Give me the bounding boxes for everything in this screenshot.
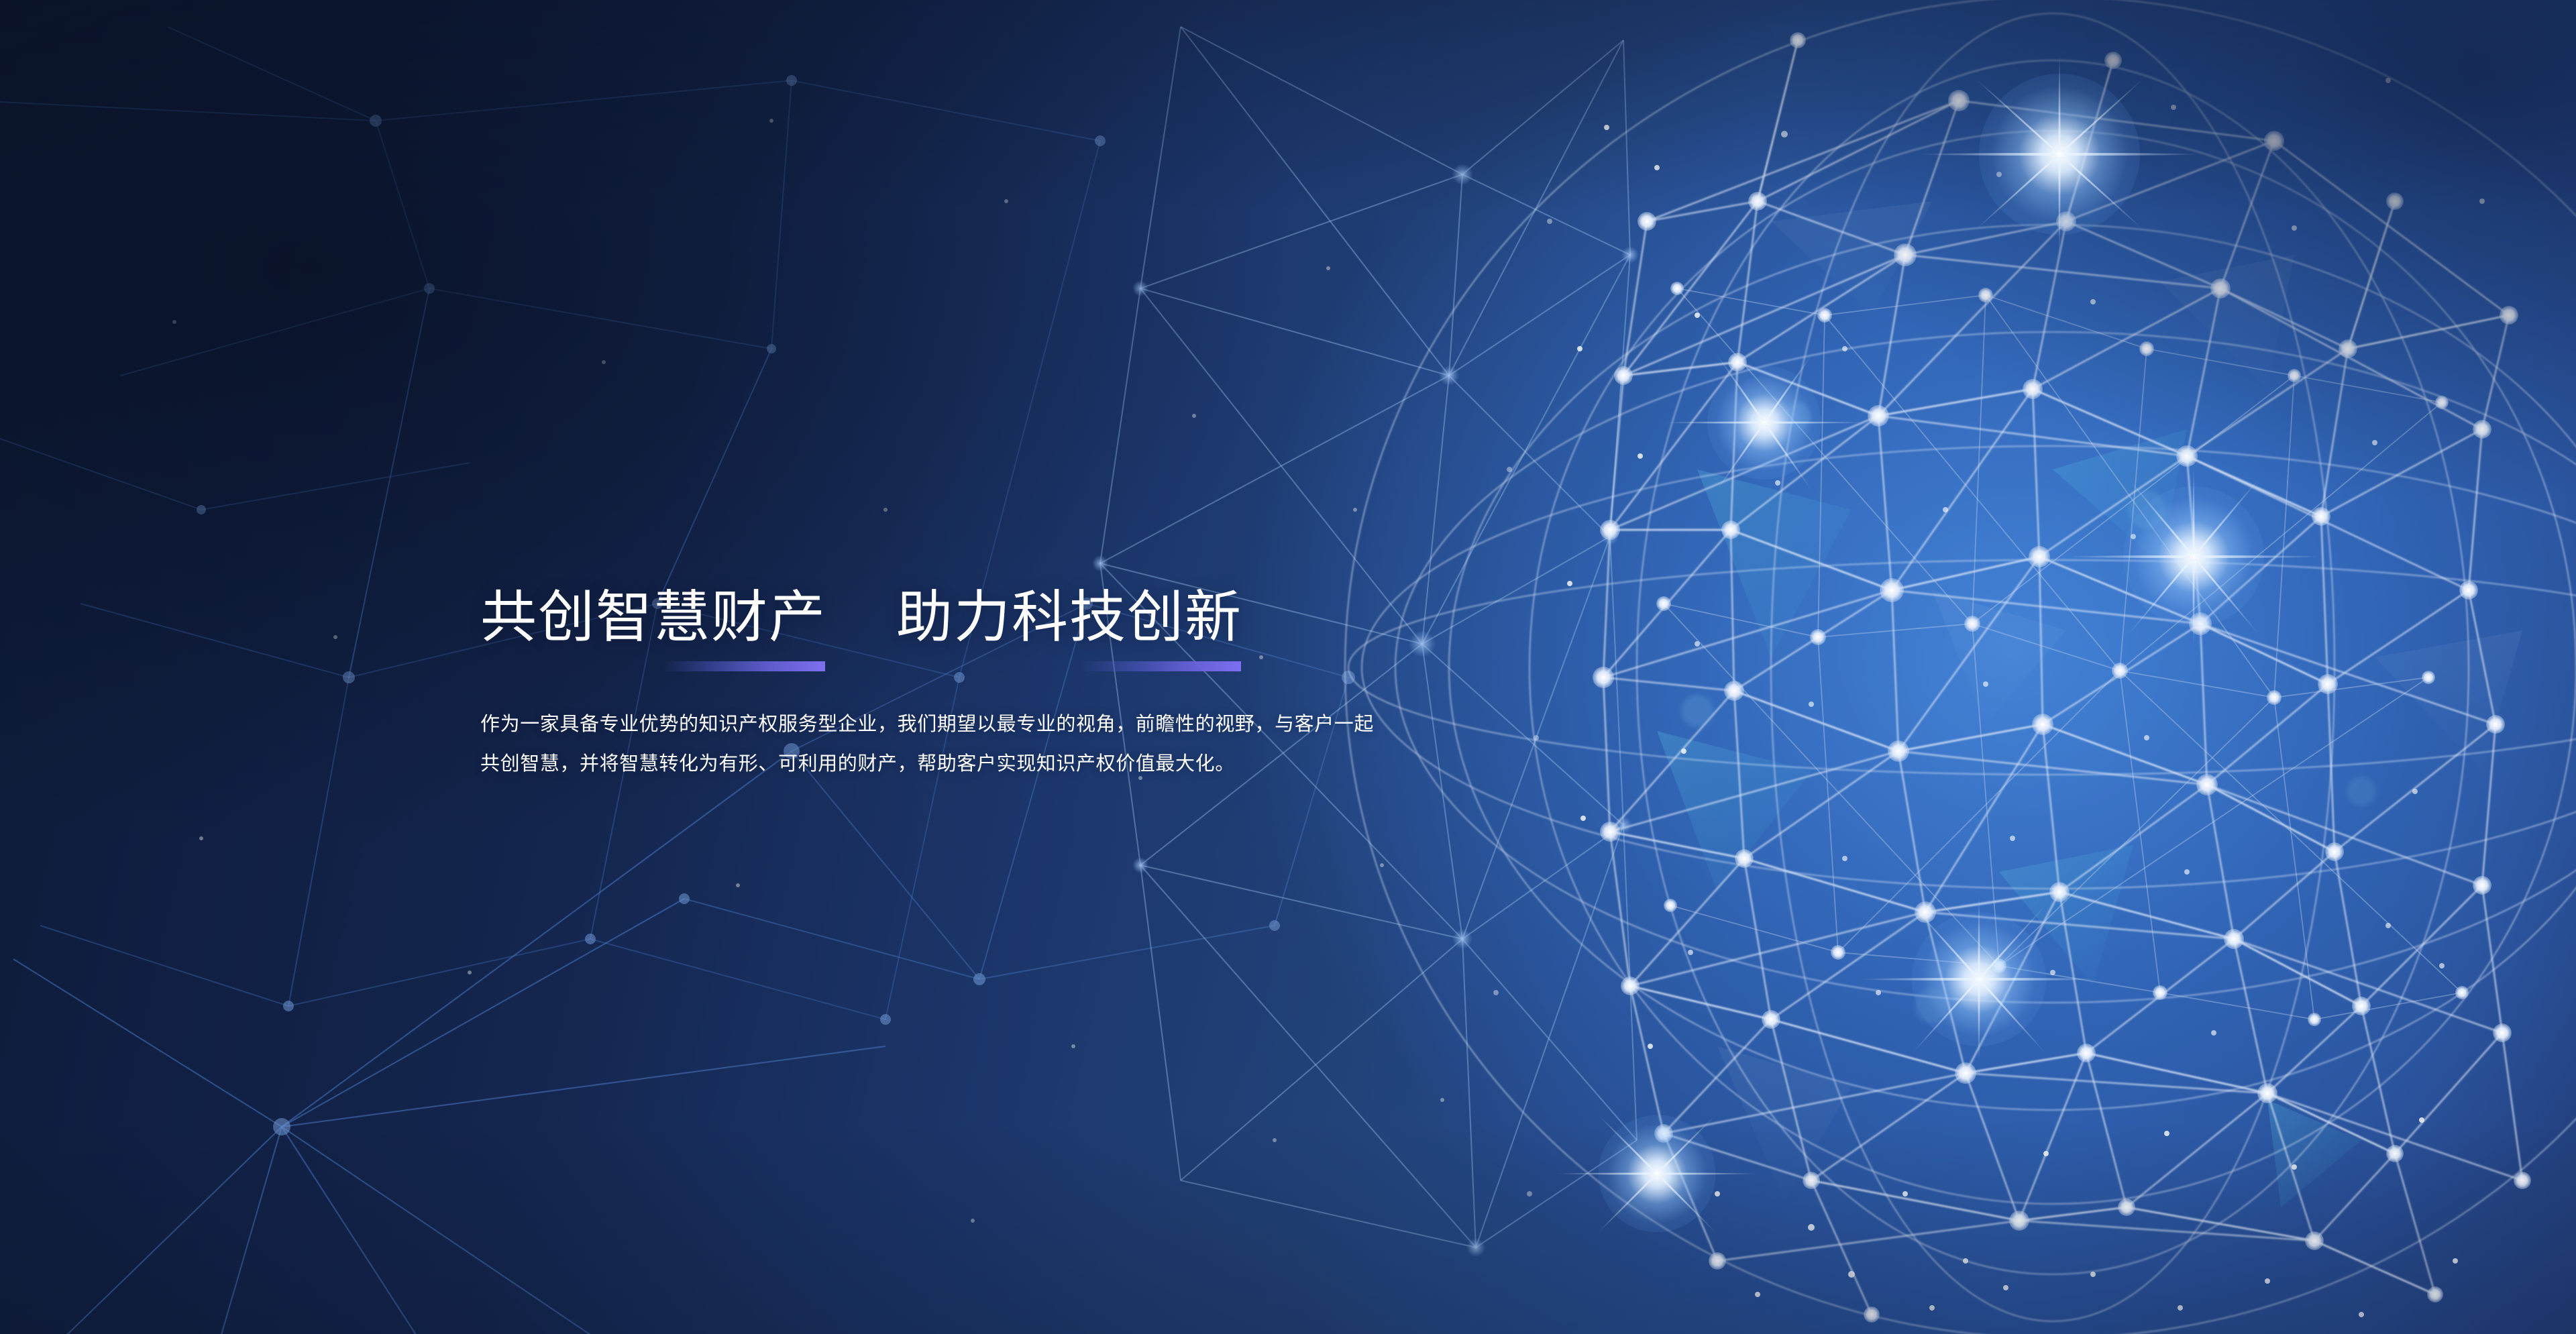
page-title: 共创智慧财产 助力科技创新	[480, 588, 1419, 647]
hero-banner: 共创智慧财产 助力科技创新 作为一家具备专业优势的知识产权服务型企业，我们期望以…	[0, 0, 2576, 1334]
hero-content: 共创智慧财产 助力科技创新 作为一家具备专业优势的知识产权服务型企业，我们期望以…	[480, 550, 1419, 803]
headline-segment-one: 共创智慧财产	[480, 588, 826, 647]
headline-one-plain: 共创智慧	[480, 588, 711, 647]
hero-description: 作为一家具备专业优势的知识产权服务型企业，我们期望以最专业的视角，前瞻性的视野，…	[480, 705, 1387, 783]
headline-two-accent: 创新	[1127, 588, 1242, 647]
headline-segment-two: 助力科技创新	[896, 588, 1242, 647]
headline-one-accent: 财产	[711, 588, 826, 647]
headline-two-plain: 助力科技	[896, 588, 1127, 647]
